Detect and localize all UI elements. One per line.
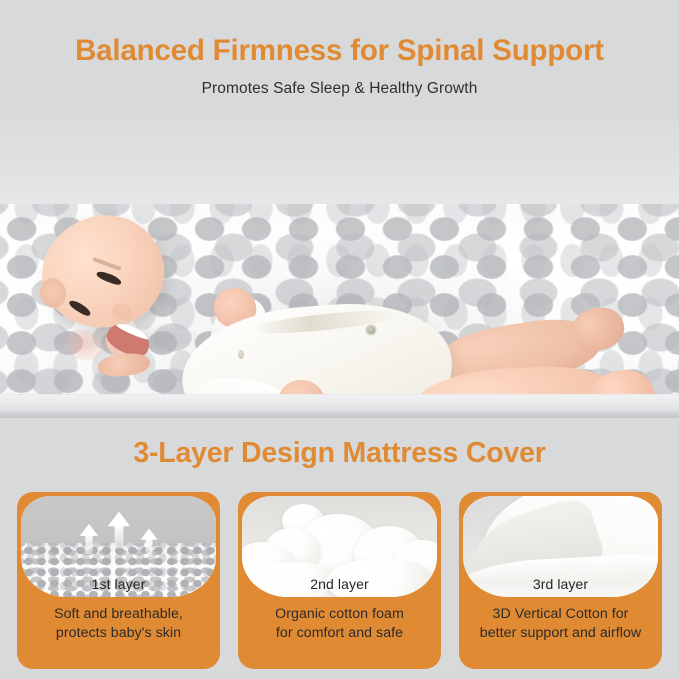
page-subtitle: Promotes Safe Sleep & Healthy Growth <box>0 79 679 99</box>
baby-onesie-snap <box>367 326 375 334</box>
layer-label-2nd: 2nd layer <box>242 576 437 592</box>
layer-card-2nd-description: Organic cotton foam for comfort and safe <box>244 605 435 643</box>
mattress-drop-shadow <box>0 410 679 418</box>
layer-label-3rd: 3rd layer <box>463 576 658 592</box>
product-infographic: Balanced Firmness for Spinal Support Pro… <box>0 0 679 679</box>
layer-card-1st-desc-line1: Soft and breathable, <box>23 605 214 624</box>
hero-product-photo <box>0 118 679 418</box>
layer-card-3rd-desc-line2: better support and airflow <box>465 624 656 643</box>
layer-card-3rd[interactable]: 3rd layer 3D Vertical Cotton for better … <box>459 492 662 669</box>
layer-card-list: 1st layer Soft and breathable, protects … <box>17 492 662 669</box>
layer-card-2nd[interactable]: 2nd layer Organic cotton foam for comfor… <box>238 492 441 669</box>
header-section: Balanced Firmness for Spinal Support Pro… <box>0 0 679 118</box>
layer-card-2nd-desc-line1: Organic cotton foam <box>244 605 435 624</box>
layer-card-1st-description: Soft and breathable, protects baby's ski… <box>23 605 214 643</box>
layer-label-1st: 1st layer <box>21 576 216 592</box>
baby-onesie-snap-secondary <box>238 350 244 359</box>
layer-card-1st[interactable]: 1st layer Soft and breathable, protects … <box>17 492 220 669</box>
photo-backdrop <box>0 118 679 218</box>
section-title: 3-Layer Design Mattress Cover <box>0 435 679 471</box>
layer-card-3rd-description: 3D Vertical Cotton for better support an… <box>465 605 656 643</box>
layer-card-3rd-photo: 3rd layer <box>463 496 658 597</box>
layer-card-2nd-desc-line2: for comfort and safe <box>244 624 435 643</box>
layer-card-3rd-desc-line1: 3D Vertical Cotton for <box>465 605 656 624</box>
layer-card-1st-desc-line2: protects baby's skin <box>23 624 214 643</box>
layer-card-1st-photo: 1st layer <box>21 496 216 597</box>
page-title: Balanced Firmness for Spinal Support <box>0 33 679 69</box>
layer-card-2nd-photo: 2nd layer <box>242 496 437 597</box>
